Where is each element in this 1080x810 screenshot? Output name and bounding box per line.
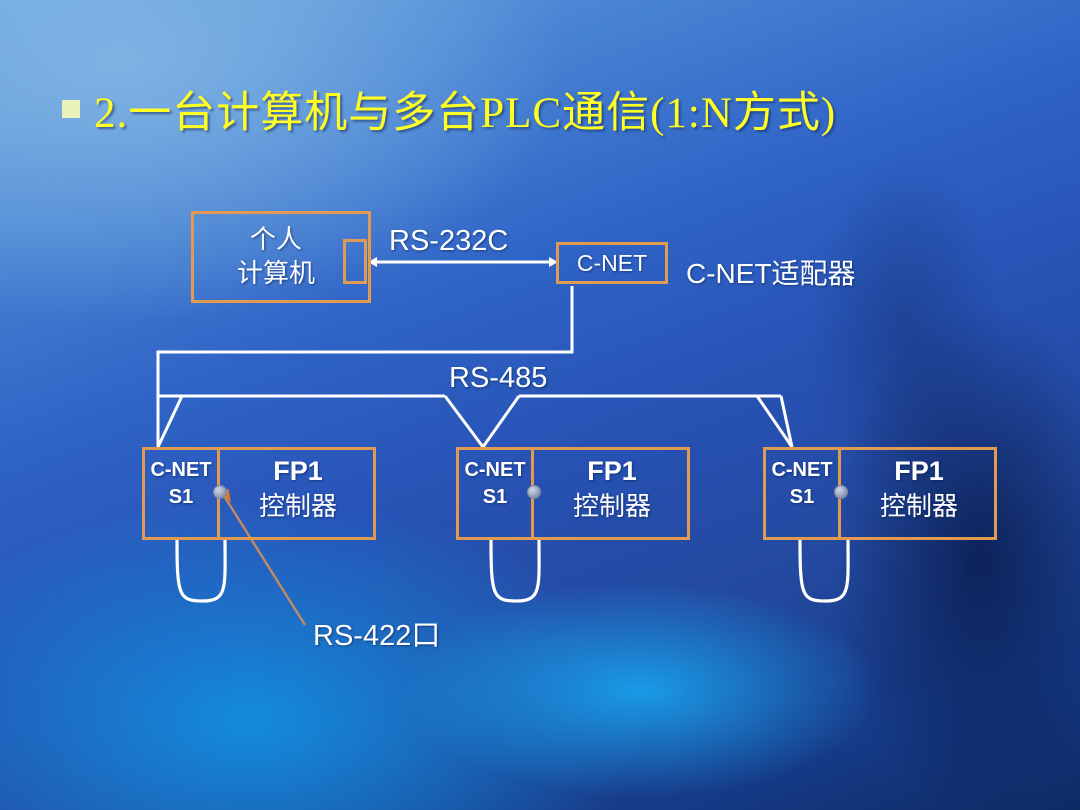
- rs232-label: RS-232C: [389, 225, 508, 258]
- plc-1-cnet-s1-label: C-NET S1: [142, 457, 220, 511]
- pc-label-line1: 个人: [191, 222, 361, 256]
- plc-2-cnet-line2: S1: [456, 484, 534, 511]
- slide-title-row: 2.一台计算机与多台PLC通信(1:N方式): [62, 78, 836, 140]
- plc-3-fp1-label: FP1 控制器: [841, 453, 997, 523]
- cnet-adapter-caption: C-NET适配器: [686, 252, 856, 292]
- plc-2-fp1-line1: FP1: [534, 453, 690, 489]
- plc-3-connector-dot-icon: [834, 485, 848, 499]
- slide-canvas: 2.一台计算机与多台PLC通信(1:N方式): [0, 0, 1080, 810]
- rs422-loop-cables: [177, 540, 848, 601]
- plc-3-fp1-line1: FP1: [841, 453, 997, 489]
- serial-port-icon: [343, 239, 367, 284]
- plc-2-cnet-line1: C-NET: [456, 457, 534, 484]
- plc-unit-1[interactable]: C-NET S1 FP1 控制器: [142, 447, 376, 540]
- plc-1-fp1-line1: FP1: [220, 453, 376, 489]
- plc-unit-3[interactable]: C-NET S1 FP1 控制器: [763, 447, 997, 540]
- rs485-label: RS-485: [449, 362, 547, 395]
- plc-2-connector-dot-icon: [527, 485, 541, 499]
- plc-unit-2[interactable]: C-NET S1 FP1 控制器: [456, 447, 690, 540]
- plc-2-fp1-label: FP1 控制器: [534, 453, 690, 523]
- page-title: 2.一台计算机与多台PLC通信(1:N方式): [94, 78, 836, 140]
- plc-3-cnet-line1: C-NET: [763, 457, 841, 484]
- plc-1-fp1-label: FP1 控制器: [220, 453, 376, 523]
- personal-computer-label: 个人 计算机: [191, 222, 361, 290]
- plc-3-fp1-line2: 控制器: [841, 489, 997, 523]
- plc-1-cnet-line2: S1: [142, 484, 220, 511]
- plc-2-cnet-s1-label: C-NET S1: [456, 457, 534, 511]
- plc-2-fp1-line2: 控制器: [534, 489, 690, 523]
- cnet-adapter-label: C-NET: [556, 250, 668, 277]
- rs422-label: RS-422口: [313, 612, 440, 654]
- plc-1-cnet-line1: C-NET: [142, 457, 220, 484]
- plc-1-connector-dot-icon: [213, 485, 227, 499]
- plc-3-cnet-line2: S1: [763, 484, 841, 511]
- rs485-drop-legs: [158, 396, 792, 447]
- pc-label-line2: 计算机: [191, 256, 361, 290]
- plc-1-fp1-line2: 控制器: [220, 489, 376, 523]
- plc-3-cnet-s1-label: C-NET S1: [763, 457, 841, 511]
- square-bullet-icon: [62, 100, 80, 118]
